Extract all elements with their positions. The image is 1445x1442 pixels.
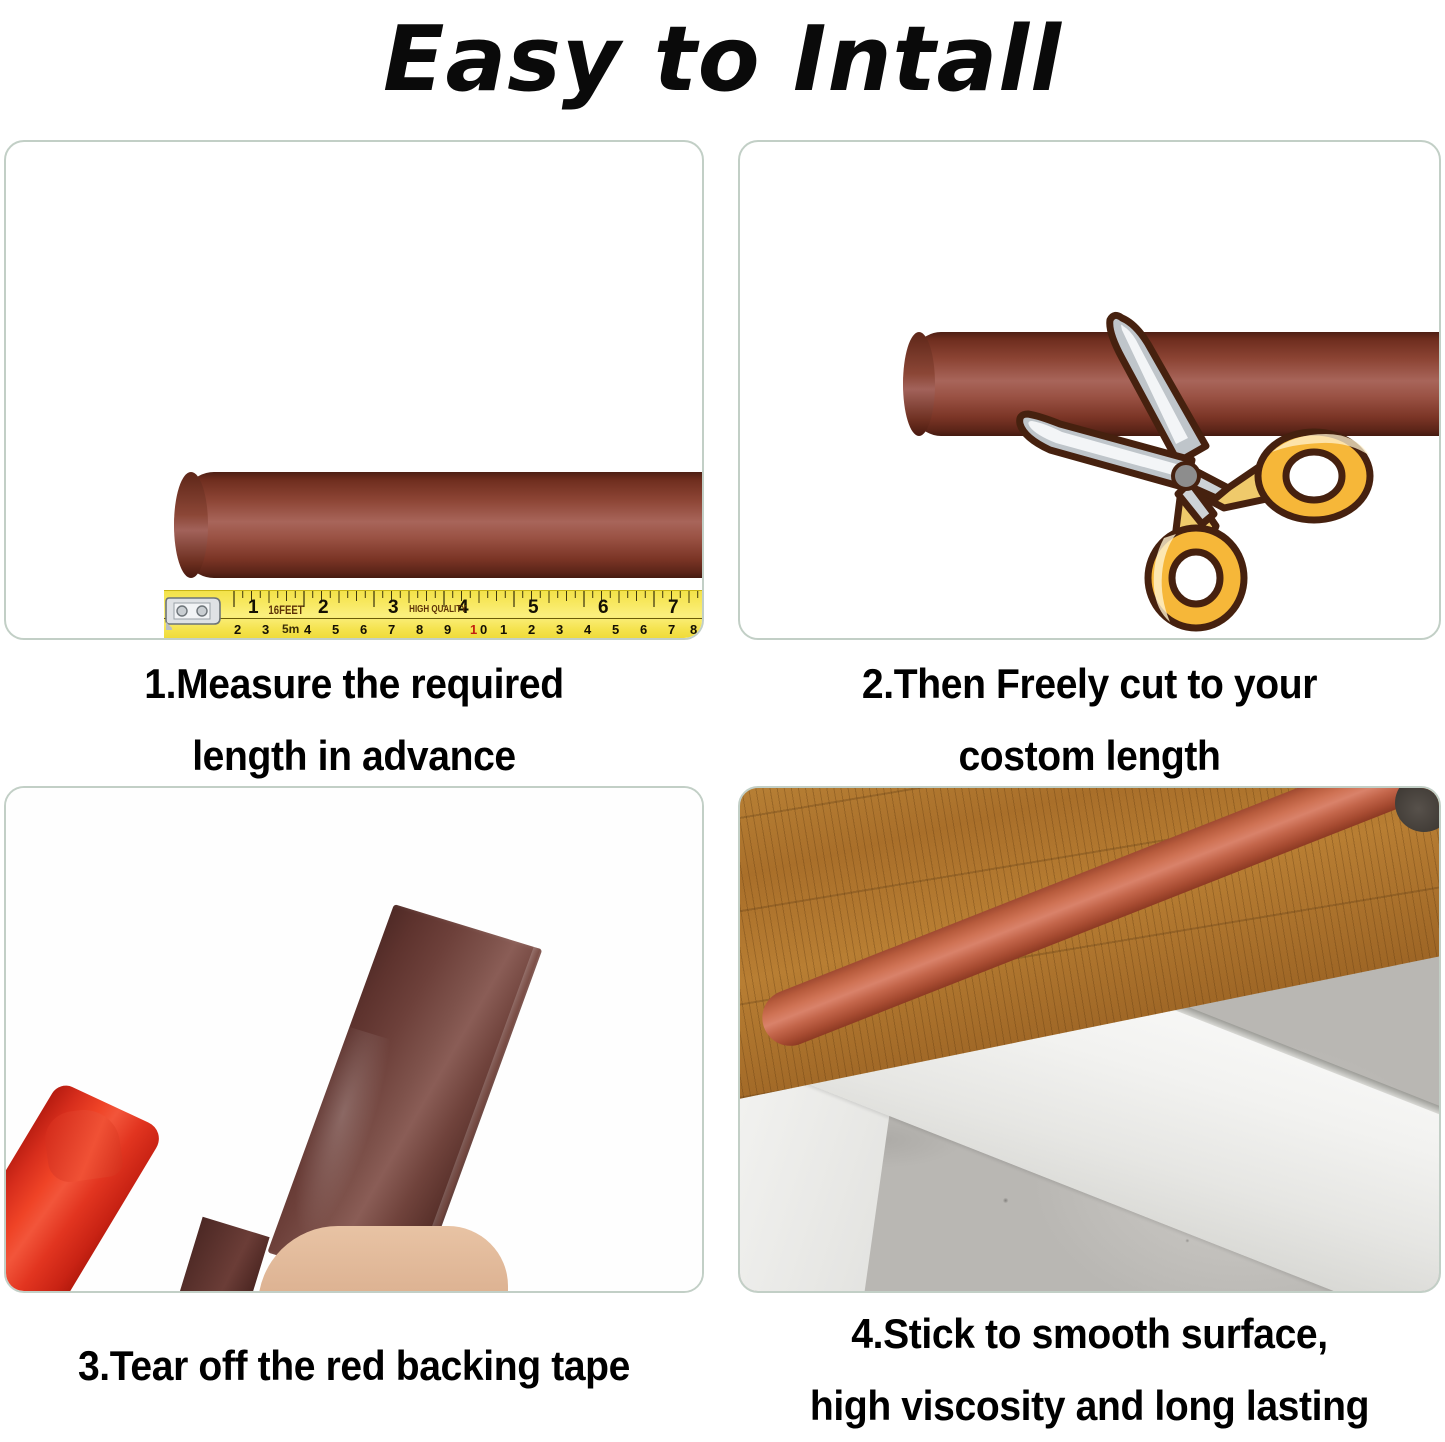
tape-metric-4: 4 — [304, 623, 311, 636]
tape-measure-hook-icon — [164, 592, 222, 630]
tape-metric-10-ones: 0 — [480, 623, 487, 636]
step-panel-3 — [4, 786, 704, 1293]
step-caption-4: 4.Stick to smooth surface, high viscosit… — [763, 1298, 1417, 1442]
tape-ticks — [164, 590, 704, 640]
step-caption-1-line1: 1.Measure the required — [29, 648, 680, 720]
tape-metric-5: 5 — [332, 623, 339, 636]
step-caption-3: 3.Tear off the red backing tape — [29, 1330, 680, 1402]
tape-metric-7: 7 — [388, 623, 395, 636]
tape-metric-12: 2 — [528, 623, 535, 636]
tape-metric-10-tens: 1 — [470, 623, 477, 636]
tape-metric-unit-label: 5m — [282, 623, 299, 635]
peeling-backing-tape-photo — [6, 788, 702, 1291]
tape-metric-13: 3 — [556, 623, 563, 636]
tape-imperial-7: 7 — [668, 598, 679, 617]
step-caption-2-line2: costom length — [763, 720, 1417, 792]
tape-metric-6: 6 — [360, 623, 367, 636]
step-caption-4-line2: high viscosity and long lasting — [763, 1370, 1417, 1442]
step-panel-1: 1 2 3 4 5 6 7 16FEET HIGH QUALITY 5m 2 3… — [4, 140, 704, 640]
trim-strip-illustration — [174, 472, 704, 578]
tape-measure-illustration: 1 2 3 4 5 6 7 16FEET HIGH QUALITY 5m 2 3… — [164, 590, 704, 640]
tape-metric-8: 8 — [416, 623, 423, 636]
tape-imperial-6: 6 — [598, 598, 609, 617]
tape-metric-14: 4 — [584, 623, 591, 636]
step-caption-2-line1: 2.Then Freely cut to your — [763, 648, 1417, 720]
step-caption-1: 1.Measure the required length in advance — [29, 648, 680, 792]
step-panel-2 — [738, 140, 1441, 640]
step-caption-2: 2.Then Freely cut to your costom length — [763, 648, 1417, 792]
trim-strip-lower-part — [176, 1217, 269, 1293]
step-caption-1-line2: length in advance — [29, 720, 680, 792]
tape-imperial-2: 2 — [318, 598, 329, 617]
installed-trim-photo — [740, 788, 1439, 1291]
step-caption-3-line1: 3.Tear off the red backing tape — [29, 1330, 680, 1402]
step-panel-4 — [738, 786, 1441, 1293]
tape-brand-label: 16FEET — [268, 604, 303, 616]
page-title: Easy to Intall — [0, 0, 1445, 118]
tape-metric-9: 9 — [444, 623, 451, 636]
tape-metric-18: 8 — [690, 623, 697, 636]
tape-metric-2: 2 — [234, 623, 241, 636]
tape-imperial-1: 1 — [248, 598, 259, 617]
tape-quality-label: HIGH QUALITY — [409, 605, 466, 615]
step-caption-4-line1: 4.Stick to smooth surface, — [763, 1298, 1417, 1370]
tape-metric-17: 7 — [668, 623, 675, 636]
scissors-icon — [1010, 292, 1410, 632]
tape-metric-15: 5 — [612, 623, 619, 636]
tape-imperial-5: 5 — [528, 598, 539, 617]
tape-imperial-3: 3 — [388, 598, 399, 617]
tape-metric-16: 6 — [640, 623, 647, 636]
tape-metric-11: 1 — [500, 623, 507, 636]
tape-metric-3: 3 — [262, 623, 269, 636]
